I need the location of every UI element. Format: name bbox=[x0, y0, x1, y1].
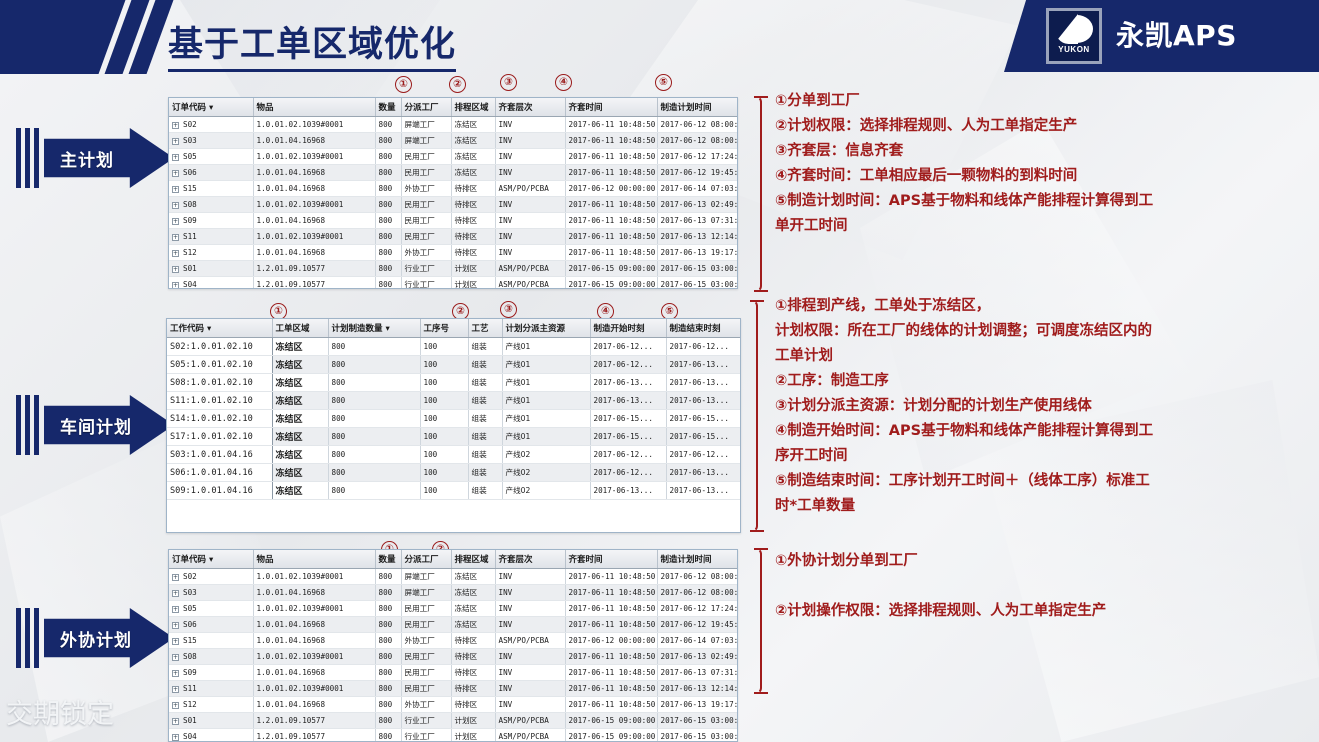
table-row[interactable]: +S151.0.01.04.16968800外协工厂待排区ASM/PO/PCBA… bbox=[169, 633, 738, 649]
connector-brace-3 bbox=[752, 548, 762, 694]
table-cell: S09:1.0.01.04.16 bbox=[167, 482, 272, 500]
table-cell: +S03 bbox=[169, 585, 253, 601]
table-cell: 2017-06-15 03:00:00 bbox=[657, 261, 738, 277]
table-cell: 组装 bbox=[468, 482, 502, 500]
row-expander-icon[interactable]: + bbox=[172, 170, 179, 177]
table-cell: 100 bbox=[420, 338, 468, 356]
table-cell: INV bbox=[495, 585, 565, 601]
table-cell: 800 bbox=[328, 338, 420, 356]
column-header[interactable]: 工作代码 ▾ bbox=[167, 319, 272, 338]
row-expander-icon[interactable]: + bbox=[172, 282, 179, 289]
table-cell: INV bbox=[495, 197, 565, 213]
table-cell: 屏端工厂 bbox=[401, 569, 451, 585]
page-title: 基于工单区域优化 bbox=[168, 16, 456, 72]
arrow-shape: 外协计划 bbox=[44, 608, 174, 668]
table-row[interactable]: +S021.0.01.02.1039#0001800屏端工厂冻结区INV2017… bbox=[169, 117, 738, 133]
row-expander-icon[interactable]: + bbox=[172, 122, 179, 129]
table-cell: 1.0.01.04.16968 bbox=[253, 213, 375, 229]
table-header-row: 工作代码 ▾工单区域计划制造数量 ▾工序号工艺计划分派主资源制造开始时刻制造结束… bbox=[167, 319, 741, 338]
table-cell: 2017-06-11 10:48:50 bbox=[565, 229, 657, 245]
column-header[interactable]: 排程区域 bbox=[451, 98, 495, 117]
table-row[interactable]: +S091.0.01.04.16968800民用工厂待排区INV2017-06-… bbox=[169, 665, 738, 681]
table-cell: 2017-06-14 07:03:28 bbox=[657, 633, 738, 649]
row-expander-icon[interactable]: + bbox=[172, 734, 179, 741]
table-cell: 2017-06-12 19:45:52 bbox=[657, 617, 738, 633]
row-expander-icon[interactable]: + bbox=[172, 606, 179, 613]
table-cell: ASM/PO/PCBA bbox=[495, 181, 565, 197]
table-cell: 计划区 bbox=[451, 729, 495, 742]
outsource-grid[interactable]: 订单代码 ▾物品数量分派工厂排程区域齐套层次齐套时间制造计划时间 +S021.0… bbox=[168, 549, 738, 742]
table-cell: 1.0.01.02.1039#0001 bbox=[253, 601, 375, 617]
row-expander-icon[interactable]: + bbox=[172, 202, 179, 209]
table-cell: 2017-06-11 10:48:50 bbox=[565, 585, 657, 601]
table-cell: 2017-06-11 10:48:50 bbox=[565, 213, 657, 229]
table-cell: 待排区 bbox=[451, 681, 495, 697]
table-cell: 800 bbox=[328, 392, 420, 410]
table-cell: S05:1.0.01.02.10 bbox=[167, 356, 272, 374]
table-cell: 800 bbox=[375, 117, 401, 133]
table-cell: 2017-06-12 17:24:42 bbox=[657, 601, 738, 617]
table-cell: 800 bbox=[375, 181, 401, 197]
table-cell: 800 bbox=[375, 261, 401, 277]
table-cell: 2017-06-12... bbox=[590, 338, 666, 356]
table-cell: 2017-06-15... bbox=[590, 428, 666, 446]
table-cell: 待排区 bbox=[451, 697, 495, 713]
table-cell: S08:1.0.01.02.10 bbox=[167, 374, 272, 392]
table-row[interactable]: S11:1.0.01.02.10冻结区800100组装产线012017-06-1… bbox=[167, 392, 741, 410]
table-cell: 2017-06-11 10:48:50 bbox=[565, 681, 657, 697]
table-cell: INV bbox=[495, 665, 565, 681]
table-row[interactable]: +S081.0.01.02.1039#0001800民用工厂待排区INV2017… bbox=[169, 197, 738, 213]
table-cell: 1.2.01.09.10577 bbox=[253, 713, 375, 729]
table-cell: 冻结区 bbox=[451, 133, 495, 149]
row-expander-icon[interactable]: + bbox=[172, 686, 179, 693]
yukon-logo-icon: YUKON bbox=[1046, 8, 1102, 64]
table-cell: 冻结区 bbox=[451, 569, 495, 585]
table-cell: 800 bbox=[375, 149, 401, 165]
table-cell: 计划区 bbox=[451, 277, 495, 290]
workorder-grid[interactable]: 工作代码 ▾工单区域计划制造数量 ▾工序号工艺计划分派主资源制造开始时刻制造结束… bbox=[166, 318, 741, 533]
table-row[interactable]: +S041.2.01.09.10577800行业工厂计划区ASM/PO/PCBA… bbox=[169, 277, 738, 290]
table-cell: 产线02 bbox=[502, 464, 590, 482]
table-cell: 待排区 bbox=[451, 649, 495, 665]
table-cell: 800 bbox=[375, 681, 401, 697]
row-expander-icon[interactable]: + bbox=[172, 622, 179, 629]
table-cell: 800 bbox=[328, 482, 420, 500]
table-cell: 组装 bbox=[468, 446, 502, 464]
table-row[interactable]: +S121.0.01.04.16968800外协工厂待排区INV2017-06-… bbox=[169, 245, 738, 261]
sidebar-item-outsource-plan[interactable]: 外协计划 bbox=[14, 608, 174, 668]
table-cell: 2017-06-15 03:00:00 bbox=[657, 713, 738, 729]
table-cell: S02:1.0.01.02.10 bbox=[167, 338, 272, 356]
table-cell: 100 bbox=[420, 410, 468, 428]
table-cell: 1.0.01.02.1039#0001 bbox=[253, 197, 375, 213]
order-grid[interactable]: 订单代码 ▾物品数量分派工厂排程区域齐套层次齐套时间制造计划时间 +S021.0… bbox=[168, 97, 738, 289]
table-row[interactable]: +S051.0.01.02.1039#0001800民用工厂冻结区INV2017… bbox=[169, 149, 738, 165]
table-cell: INV bbox=[495, 149, 565, 165]
table-cell: +S02 bbox=[169, 117, 253, 133]
row-expander-icon[interactable]: + bbox=[172, 266, 179, 273]
table-row[interactable]: +S121.0.01.04.16968800外协工厂待排区INV2017-06-… bbox=[169, 697, 738, 713]
table-cell: 产线01 bbox=[502, 428, 590, 446]
table-cell: +S09 bbox=[169, 213, 253, 229]
table-row[interactable]: +S051.0.01.02.1039#0001800民用工厂冻结区INV2017… bbox=[169, 601, 738, 617]
table-cell: 行业工厂 bbox=[401, 277, 451, 290]
table-cell: 民用工厂 bbox=[401, 617, 451, 633]
table-cell: 800 bbox=[375, 229, 401, 245]
sidebar-item-master-plan[interactable]: 主计划 bbox=[14, 128, 174, 188]
connector-tick-3a bbox=[754, 548, 768, 550]
table-cell: +S06 bbox=[169, 165, 253, 181]
table-cell: +S09 bbox=[169, 665, 253, 681]
connector-tick-2a bbox=[750, 300, 764, 302]
table-row[interactable]: S14:1.0.01.02.10冻结区800100组装产线012017-06-1… bbox=[167, 410, 741, 428]
column-header[interactable]: 计划分派主资源 bbox=[502, 319, 590, 338]
table-row[interactable]: S17:1.0.01.02.10冻结区800100组装产线012017-06-1… bbox=[167, 428, 741, 446]
table-cell: 冻结区 bbox=[272, 464, 328, 482]
column-header[interactable]: 物品 bbox=[253, 550, 375, 569]
table-cell: 1.0.01.02.1039#0001 bbox=[253, 117, 375, 133]
table-cell: 计划区 bbox=[451, 713, 495, 729]
table-header-row: 订单代码 ▾物品数量分派工厂排程区域齐套层次齐套时间制造计划时间 bbox=[169, 550, 738, 569]
table-cell: 冻结区 bbox=[451, 149, 495, 165]
table-cell: +S15 bbox=[169, 181, 253, 197]
brand-name: 永凯APS bbox=[1116, 14, 1237, 54]
table-cell: 外协工厂 bbox=[401, 181, 451, 197]
table-cell: +S08 bbox=[169, 649, 253, 665]
table-cell: INV bbox=[495, 569, 565, 585]
sidebar-item-label: 车间计划 bbox=[60, 413, 132, 438]
row-expander-icon[interactable]: + bbox=[172, 718, 179, 725]
table-cell: 2017-06-11 10:48:50 bbox=[565, 117, 657, 133]
table-cell: 100 bbox=[420, 464, 468, 482]
table-row[interactable]: S08:1.0.01.02.10冻结区800100组装产线012017-06-1… bbox=[167, 374, 741, 392]
table-cell: 800 bbox=[328, 410, 420, 428]
table-cell: 2017-06-15... bbox=[666, 428, 741, 446]
table-cell: 1.0.01.02.1039#0001 bbox=[253, 681, 375, 697]
table-row[interactable]: +S031.0.01.04.16968800屏端工厂冻结区INV2017-06-… bbox=[169, 133, 738, 149]
table-cell: S03:1.0.01.04.16 bbox=[167, 446, 272, 464]
table-row[interactable]: +S061.0.01.04.16968800民用工厂冻结区INV2017-06-… bbox=[169, 165, 738, 181]
row-expander-icon[interactable]: + bbox=[172, 702, 179, 709]
table-row[interactable]: +S021.0.01.02.1039#0001800屏端工厂冻结区INV2017… bbox=[169, 569, 738, 585]
table-cell: 冻结区 bbox=[272, 374, 328, 392]
table-row[interactable]: S02:1.0.01.02.10冻结区800100组装产线012017-06-1… bbox=[167, 338, 741, 356]
table-cell: 100 bbox=[420, 428, 468, 446]
table-cell: 2017-06-13 19:17:36 bbox=[657, 245, 738, 261]
row-expander-icon[interactable]: + bbox=[172, 574, 179, 581]
table-row[interactable]: S03:1.0.01.04.16冻结区800100组装产线022017-06-1… bbox=[167, 446, 741, 464]
marker-2-order-grid: ② bbox=[449, 76, 466, 93]
table-cell: 2017-06-13... bbox=[666, 464, 741, 482]
column-header[interactable]: 数量 bbox=[375, 550, 401, 569]
row-expander-icon[interactable]: + bbox=[172, 638, 179, 645]
table-cell: +S01 bbox=[169, 713, 253, 729]
table-row[interactable]: +S111.0.01.02.1039#0001800民用工厂待排区INV2017… bbox=[169, 681, 738, 697]
arrow-bars-decoration bbox=[14, 608, 40, 668]
table-cell: 2017-06-13... bbox=[666, 482, 741, 500]
table-cell: 800 bbox=[375, 633, 401, 649]
table-cell: 外协工厂 bbox=[401, 245, 451, 261]
table-cell: 待排区 bbox=[451, 665, 495, 681]
table-cell: 1.0.01.04.16968 bbox=[253, 617, 375, 633]
table-cell: 800 bbox=[328, 356, 420, 374]
table-cell: INV bbox=[495, 649, 565, 665]
table-cell: ASM/PO/PCBA bbox=[495, 277, 565, 290]
arrow-shape: 主计划 bbox=[44, 128, 174, 188]
column-header[interactable]: 工单区域 bbox=[272, 319, 328, 338]
table-cell: +S05 bbox=[169, 601, 253, 617]
row-expander-icon[interactable]: + bbox=[172, 670, 179, 677]
table-cell: 待排区 bbox=[451, 197, 495, 213]
table-cell: 2017-06-11 10:48:50 bbox=[565, 697, 657, 713]
table-cell: 800 bbox=[375, 133, 401, 149]
table-cell: +S11 bbox=[169, 681, 253, 697]
table-row[interactable]: +S081.0.01.02.1039#0001800民用工厂待排区INV2017… bbox=[169, 649, 738, 665]
marker-5-order-grid: ⑤ bbox=[655, 74, 672, 91]
table-cell: 待排区 bbox=[451, 245, 495, 261]
table-cell: 2017-06-15 09:00:00 bbox=[565, 277, 657, 290]
table-row[interactable]: +S111.0.01.02.1039#0001800民用工厂待排区INV2017… bbox=[169, 229, 738, 245]
table-cell: 2017-06-11 10:48:50 bbox=[565, 617, 657, 633]
table-cell: +S05 bbox=[169, 149, 253, 165]
table-cell: 1.0.01.02.1039#0001 bbox=[253, 569, 375, 585]
table-cell: 2017-06-13... bbox=[590, 392, 666, 410]
table-row[interactable]: +S031.0.01.04.16968800屏端工厂冻结区INV2017-06-… bbox=[169, 585, 738, 601]
table-cell: 800 bbox=[375, 713, 401, 729]
table-cell: 2017-06-11 10:48:50 bbox=[565, 649, 657, 665]
table-cell: 2017-06-13 12:14:06 bbox=[657, 229, 738, 245]
table-cell: 2017-06-13... bbox=[590, 374, 666, 392]
column-header[interactable]: 订单代码 ▾ bbox=[169, 98, 253, 117]
table-cell: 100 bbox=[420, 392, 468, 410]
table-cell: 民用工厂 bbox=[401, 165, 451, 181]
table-cell: 组装 bbox=[468, 338, 502, 356]
column-header[interactable]: 数量 bbox=[375, 98, 401, 117]
table-cell: INV bbox=[495, 681, 565, 697]
column-header[interactable]: 齐套时间 bbox=[565, 98, 657, 117]
table-cell: 计划区 bbox=[451, 261, 495, 277]
table-cell: +S04 bbox=[169, 729, 253, 742]
column-header[interactable]: 工序号 bbox=[420, 319, 468, 338]
row-expander-icon[interactable]: + bbox=[172, 186, 179, 193]
table-cell: INV bbox=[495, 601, 565, 617]
table-row[interactable]: +S061.0.01.04.16968800民用工厂冻结区INV2017-06-… bbox=[169, 617, 738, 633]
table-cell: 2017-06-13... bbox=[666, 356, 741, 374]
table-cell: 800 bbox=[375, 729, 401, 742]
table-cell: +S12 bbox=[169, 245, 253, 261]
table-cell: 2017-06-11 10:48:50 bbox=[565, 149, 657, 165]
table-cell: 2017-06-13... bbox=[590, 482, 666, 500]
table-cell: 组装 bbox=[468, 410, 502, 428]
table-body[interactable]: +S021.0.01.02.1039#0001800屏端工厂冻结区INV2017… bbox=[169, 569, 738, 742]
table-row[interactable]: S09:1.0.01.04.16冻结区800100组装产线022017-06-1… bbox=[167, 482, 741, 500]
table-cell: 2017-06-15... bbox=[590, 410, 666, 428]
table-cell: +S12 bbox=[169, 697, 253, 713]
row-expander-icon[interactable]: + bbox=[172, 654, 179, 661]
row-expander-icon[interactable]: + bbox=[172, 590, 179, 597]
table-cell: 组装 bbox=[468, 392, 502, 410]
table-cell: INV bbox=[495, 117, 565, 133]
column-header[interactable]: 物品 bbox=[253, 98, 375, 117]
table-cell: 行业工厂 bbox=[401, 713, 451, 729]
column-header[interactable]: 订单代码 ▾ bbox=[169, 550, 253, 569]
table-body[interactable]: S02:1.0.01.02.10冻结区800100组装产线012017-06-1… bbox=[167, 338, 741, 500]
table-cell: ASM/PO/PCBA bbox=[495, 633, 565, 649]
table-cell: 2017-06-14 07:03:28 bbox=[657, 181, 738, 197]
table-cell: 2017-06-12 08:00:00 bbox=[657, 585, 738, 601]
table-cell: 产线02 bbox=[502, 482, 590, 500]
table-cell: 2017-06-11 10:48:50 bbox=[565, 569, 657, 585]
table-cell: 2017-06-13 07:31:44 bbox=[657, 665, 738, 681]
table-cell: +S15 bbox=[169, 633, 253, 649]
table-cell: 冻结区 bbox=[272, 356, 328, 374]
table-cell: 100 bbox=[420, 482, 468, 500]
table-cell: 冻结区 bbox=[272, 338, 328, 356]
table-cell: 2017-06-12 00:00:00 bbox=[565, 633, 657, 649]
table-cell: 外协工厂 bbox=[401, 697, 451, 713]
table-cell: 100 bbox=[420, 446, 468, 464]
table-cell: 待排区 bbox=[451, 229, 495, 245]
table-cell: 800 bbox=[375, 585, 401, 601]
sidebar-item-workshop-plan[interactable]: 车间计划 bbox=[14, 395, 174, 455]
table-row[interactable]: S05:1.0.01.02.10冻结区800100组装产线012017-06-1… bbox=[167, 356, 741, 374]
table-cell: 行业工厂 bbox=[401, 729, 451, 742]
table-cell: 1.2.01.09.10577 bbox=[253, 277, 375, 290]
table-cell: 冻结区 bbox=[272, 410, 328, 428]
table-cell: 1.0.01.04.16968 bbox=[253, 633, 375, 649]
table-cell: 组装 bbox=[468, 464, 502, 482]
row-expander-icon[interactable]: + bbox=[172, 250, 179, 257]
column-header[interactable]: 制造计划时间 bbox=[657, 550, 738, 569]
table-cell: 800 bbox=[328, 374, 420, 392]
table-cell: 2017-06-13 02:49:24 bbox=[657, 649, 738, 665]
connector-brace-2 bbox=[748, 300, 758, 532]
table-cell: S11:1.0.01.02.10 bbox=[167, 392, 272, 410]
table-cell: S17:1.0.01.02.10 bbox=[167, 428, 272, 446]
column-header[interactable]: 工艺 bbox=[468, 319, 502, 338]
table-cell: 民用工厂 bbox=[401, 649, 451, 665]
table-row[interactable]: +S151.0.01.04.16968800外协工厂待排区ASM/PO/PCBA… bbox=[169, 181, 738, 197]
table-cell: 2017-06-12 17:24:42 bbox=[657, 149, 738, 165]
table-cell: 800 bbox=[375, 649, 401, 665]
table-cell: 2017-06-12 08:00:00 bbox=[657, 117, 738, 133]
table-cell: 2017-06-12 00:00:00 bbox=[565, 181, 657, 197]
column-header[interactable]: 分派工厂 bbox=[401, 550, 451, 569]
table-cell: 2017-06-12... bbox=[666, 446, 741, 464]
table-cell: 1.0.01.04.16968 bbox=[253, 585, 375, 601]
table-cell: 外协工厂 bbox=[401, 633, 451, 649]
table-cell: 2017-06-13... bbox=[666, 374, 741, 392]
column-header[interactable]: 齐套层次 bbox=[495, 550, 565, 569]
table-cell: 冻结区 bbox=[272, 446, 328, 464]
row-expander-icon[interactable]: + bbox=[172, 234, 179, 241]
logo-wordmark: YUKON bbox=[1058, 45, 1089, 54]
logo-band: YUKON 永凯APS bbox=[1004, 0, 1319, 72]
table-cell: 冻结区 bbox=[272, 392, 328, 410]
row-expander-icon[interactable]: + bbox=[172, 218, 179, 225]
table-cell: 2017-06-11 10:48:50 bbox=[565, 601, 657, 617]
table-cell: ASM/PO/PCBA bbox=[495, 729, 565, 742]
table-cell: 2017-06-11 10:48:50 bbox=[565, 133, 657, 149]
table-cell: 民用工厂 bbox=[401, 197, 451, 213]
annotation-outsource-plan: ①外协计划分单到工厂 ②计划操作权限：选择排程规则、人为工单指定生产 bbox=[775, 549, 1310, 624]
table-cell: 2017-06-15 09:00:00 bbox=[565, 261, 657, 277]
table-cell: ASM/PO/PCBA bbox=[495, 713, 565, 729]
table-body[interactable]: +S021.0.01.02.1039#0001800屏端工厂冻结区INV2017… bbox=[169, 117, 738, 290]
column-header[interactable]: 排程区域 bbox=[451, 550, 495, 569]
table-cell: 800 bbox=[375, 665, 401, 681]
column-header[interactable]: 制造开始时刻 bbox=[590, 319, 666, 338]
column-header[interactable]: 齐套时间 bbox=[565, 550, 657, 569]
table-cell: 产线01 bbox=[502, 374, 590, 392]
table-cell: 800 bbox=[328, 428, 420, 446]
column-header[interactable]: 齐套层次 bbox=[495, 98, 565, 117]
column-header[interactable]: 分派工厂 bbox=[401, 98, 451, 117]
table-cell: INV bbox=[495, 245, 565, 261]
column-header[interactable]: 制造结束时刻 bbox=[666, 319, 741, 338]
connector-tick-1a bbox=[754, 96, 768, 98]
table-cell: 产线01 bbox=[502, 356, 590, 374]
table-cell: 800 bbox=[375, 569, 401, 585]
table-cell: 1.0.01.04.16968 bbox=[253, 181, 375, 197]
table-cell: 1.0.01.04.16968 bbox=[253, 665, 375, 681]
arrow-bars-decoration bbox=[14, 395, 40, 455]
table-cell: 800 bbox=[375, 197, 401, 213]
row-expander-icon[interactable]: + bbox=[172, 154, 179, 161]
table-cell: 民用工厂 bbox=[401, 229, 451, 245]
annotation-master-plan: ①分单到工厂 ②计划权限：选择排程规则、人为工单指定生产 ③齐套层：信息齐套 ④… bbox=[775, 89, 1310, 239]
table-cell: 冻结区 bbox=[272, 482, 328, 500]
table-cell: 2017-06-13 02:49:24 bbox=[657, 197, 738, 213]
column-header[interactable]: 计划制造数量 ▾ bbox=[328, 319, 420, 338]
marker-3-order-grid: ③ bbox=[500, 74, 517, 91]
table-cell: 800 bbox=[375, 245, 401, 261]
table-row[interactable]: +S041.2.01.09.10577800行业工厂计划区ASM/PO/PCBA… bbox=[169, 729, 738, 742]
table-cell: 100 bbox=[420, 356, 468, 374]
table-cell: 2017-06-11 10:48:50 bbox=[565, 245, 657, 261]
table-cell: 1.0.01.04.16968 bbox=[253, 245, 375, 261]
column-header[interactable]: 制造计划时间 bbox=[657, 98, 738, 117]
table-cell: 1.0.01.02.1039#0001 bbox=[253, 149, 375, 165]
annotation-workshop-plan: ①排程到产线，工单处于冻结区， 计划权限：所在工厂的线体的计划调整；可调度冻结区… bbox=[775, 294, 1315, 519]
table-cell: 1.0.01.02.1039#0001 bbox=[253, 229, 375, 245]
table-cell: 2017-06-12... bbox=[590, 446, 666, 464]
table-cell: 2017-06-15 09:00:00 bbox=[565, 713, 657, 729]
connector-tick-2b bbox=[750, 530, 764, 532]
table-row[interactable]: +S011.2.01.09.10577800行业工厂计划区ASM/PO/PCBA… bbox=[169, 261, 738, 277]
table-row[interactable]: S06:1.0.01.04.16冻结区800100组装产线022017-06-1… bbox=[167, 464, 741, 482]
table-cell: 2017-06-12... bbox=[590, 464, 666, 482]
table-row[interactable]: +S011.2.01.09.10577800行业工厂计划区ASM/PO/PCBA… bbox=[169, 713, 738, 729]
table-cell: INV bbox=[495, 213, 565, 229]
table-cell: 2017-06-13 07:31:44 bbox=[657, 213, 738, 229]
table-cell: 800 bbox=[375, 601, 401, 617]
table-cell: 屏端工厂 bbox=[401, 133, 451, 149]
table-cell: 800 bbox=[375, 277, 401, 290]
table-cell: 2017-06-12... bbox=[590, 356, 666, 374]
table-cell: +S06 bbox=[169, 617, 253, 633]
table-cell: 屏端工厂 bbox=[401, 585, 451, 601]
table-row[interactable]: +S091.0.01.04.16968800民用工厂待排区INV2017-06-… bbox=[169, 213, 738, 229]
table-cell: 1.2.01.09.10577 bbox=[253, 261, 375, 277]
table-cell: 1.0.01.04.16968 bbox=[253, 165, 375, 181]
marker-3-workorder-grid: ③ bbox=[500, 301, 517, 318]
row-expander-icon[interactable]: + bbox=[172, 138, 179, 145]
table-cell: INV bbox=[495, 165, 565, 181]
table-cell: 产线01 bbox=[502, 392, 590, 410]
table-cell: 2017-06-11 10:48:50 bbox=[565, 165, 657, 181]
